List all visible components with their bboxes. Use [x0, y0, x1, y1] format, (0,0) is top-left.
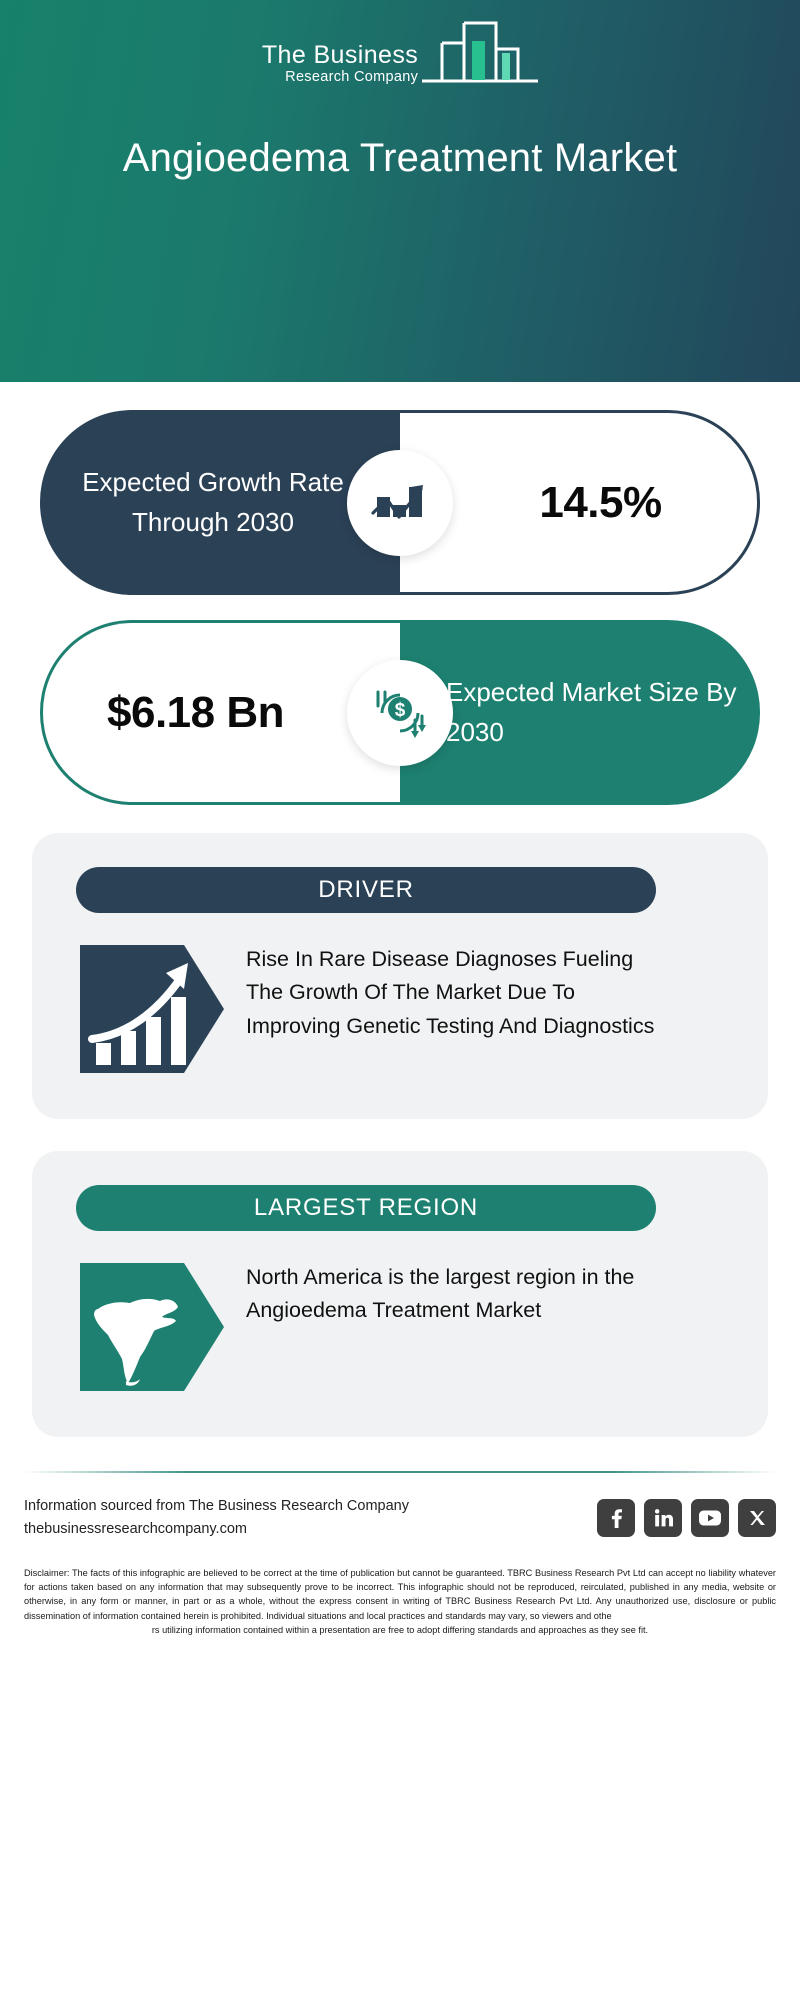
market-size-value: $6.18 Bn	[107, 685, 336, 740]
bar-chart-logo-mark	[420, 19, 538, 94]
growth-rate-value: 14.5%	[495, 478, 661, 528]
stat-growth-rate-card: Expected Growth Rate Through 2030 14.5%	[0, 410, 800, 595]
largest-region-panel-body: North America is the largest region in t…	[72, 1257, 728, 1397]
social-links	[597, 1499, 776, 1537]
driver-heading-pill: DRIVER	[76, 867, 656, 913]
footer-top: Information sourced from The Business Re…	[24, 1495, 776, 1542]
logo-secondary-text: Research Company	[285, 68, 418, 86]
growth-bars-arrow-icon	[80, 939, 224, 1079]
market-size-label: Expected Market Size By 2030	[400, 673, 760, 752]
logo-primary-text: The Business	[262, 43, 418, 68]
source-line-1: Information sourced from The Business Re…	[24, 1495, 409, 1518]
disclaimer-main: Disclaimer: The facts of this infographi…	[24, 1568, 776, 1621]
growth-rate-label: Expected Growth Rate Through 2030	[40, 463, 400, 542]
driver-body-text: Rise In Rare Disease Diagnoses Fueling T…	[246, 939, 666, 1043]
driver-heading-label: DRIVER	[318, 876, 413, 904]
x-twitter-icon[interactable]	[738, 1499, 776, 1537]
linkedin-icon[interactable]	[644, 1499, 682, 1537]
growth-value-half: 14.5%	[400, 410, 760, 595]
largest-region-heading-label: LARGEST REGION	[254, 1194, 478, 1222]
market-size-value-half: $6.18 Bn	[40, 620, 400, 805]
footer-divider	[24, 1471, 776, 1473]
stat-market-size-card: $6.18 Bn Expected Market Size By 2030 $	[0, 620, 800, 805]
largest-region-panel: LARGEST REGION North America is the larg…	[32, 1151, 768, 1437]
source-attribution: Information sourced from The Business Re…	[24, 1495, 409, 1542]
infographic-page: The Business Research Company	[0, 0, 800, 2000]
largest-region-heading-pill: LARGEST REGION	[76, 1185, 656, 1231]
facebook-icon[interactable]	[597, 1499, 635, 1537]
driver-panel: DRIVER Rise In Rare Disease Diagnoses Fu…	[32, 833, 768, 1119]
driver-panel-body: Rise In Rare Disease Diagnoses Fueling T…	[72, 939, 728, 1079]
svg-text:$: $	[395, 700, 406, 721]
north-america-map-icon	[80, 1257, 224, 1397]
growth-label-half: Expected Growth Rate Through 2030	[40, 410, 400, 595]
market-size-label-half: Expected Market Size By 2030	[400, 620, 760, 805]
page-title: Angioedema Treatment Market	[90, 134, 710, 183]
header-banner: The Business Research Company	[0, 0, 800, 382]
logo-text-block: The Business Research Company	[262, 43, 418, 100]
disclaimer-last-line: rs utilizing information contained withi…	[24, 1623, 776, 1637]
largest-region-body-text: North America is the largest region in t…	[246, 1257, 666, 1328]
company-logo: The Business Research Company	[262, 26, 538, 100]
dollar-cycle-icon: $	[347, 660, 453, 766]
youtube-icon[interactable]	[691, 1499, 729, 1537]
source-line-2[interactable]: thebusinessresearchcompany.com	[24, 1518, 409, 1541]
disclaimer-text: Disclaimer: The facts of this infographi…	[24, 1566, 776, 1637]
growth-chart-arrow-icon	[347, 450, 453, 556]
